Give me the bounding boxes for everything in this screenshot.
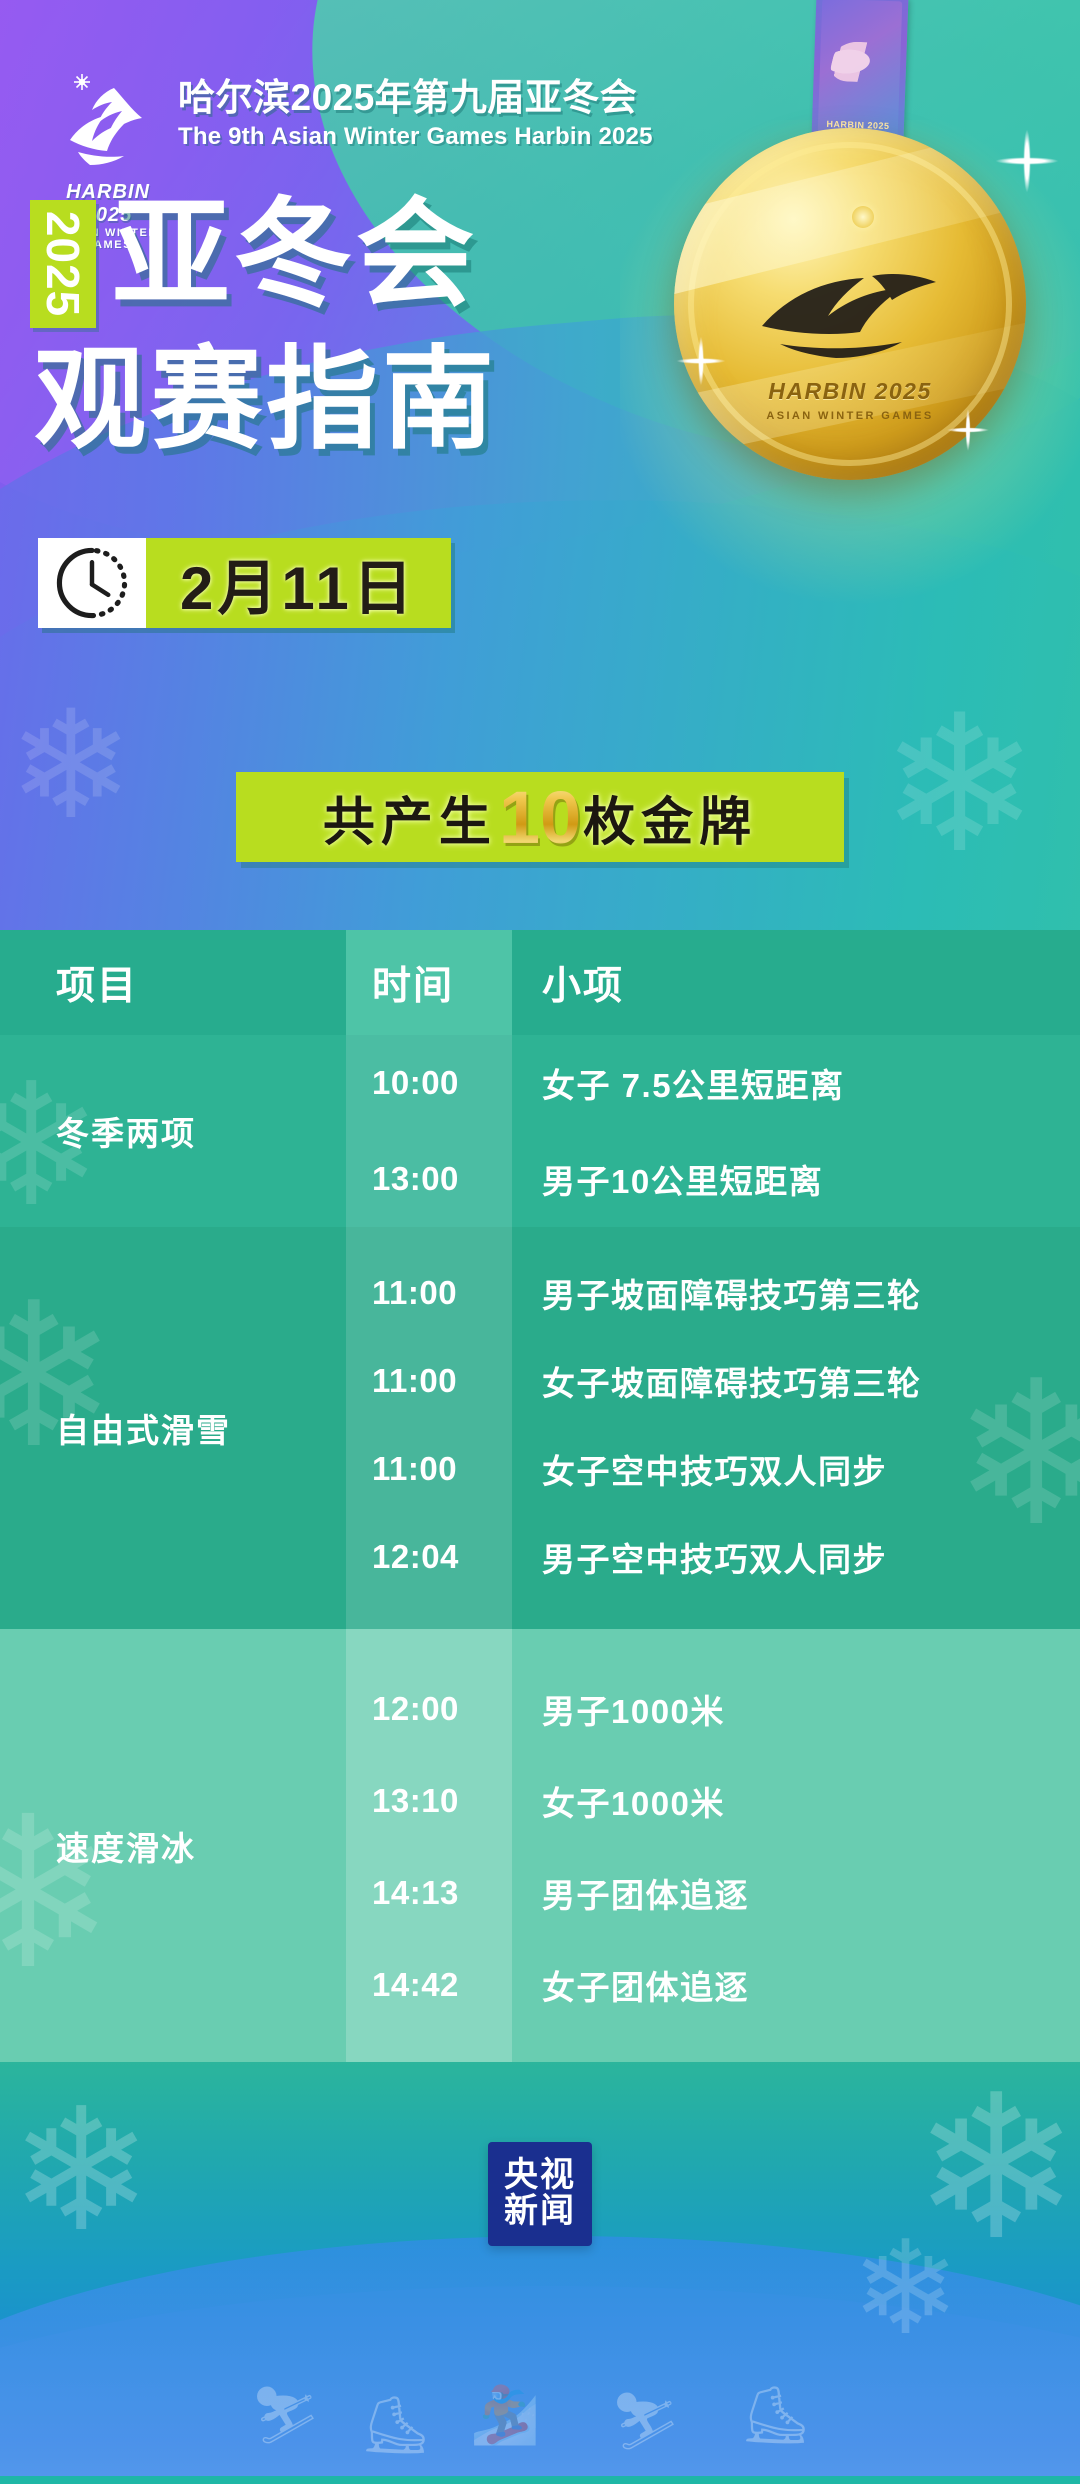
sparkle-decoration <box>666 326 736 396</box>
snowflake-decoration: ❄ <box>851 2212 960 2364</box>
table-row: 13:00 男子10公里短距离 <box>346 1131 1080 1227</box>
table-section-speed-skating: ❄ 速度滑冰 12:00 男子1000米 13:10 女子1000米 14:13… <box>0 1629 1080 2062</box>
cctv-news-logo: 央视 新闻 <box>488 2142 592 2246</box>
table-section-rows: 11:00 男子坡面障碍技巧第三轮 11:00 女子坡面障碍技巧第三轮 11:0… <box>346 1227 1080 1629</box>
table-row: 12:00 男子1000米 <box>346 1663 1080 1755</box>
table-row: 11:00 女子空中技巧双人同步 <box>346 1425 1080 1513</box>
cctv-logo-line-2: 新闻 <box>504 2194 576 2230</box>
row-subevent: 女子 7.5公里短距离 <box>512 1059 1080 1107</box>
table-section-event-cell: 速度滑冰 <box>0 1629 346 2062</box>
table-row: 10:00 女子 7.5公里短距离 <box>346 1035 1080 1131</box>
table-section-rows: 10:00 女子 7.5公里短距离 13:00 男子10公里短距离 <box>346 1035 1080 1227</box>
row-time: 13:00 <box>346 1160 512 1198</box>
table-header-cell-event: 项目 <box>0 930 346 1035</box>
row-subevent: 男子坡面障碍技巧第三轮 <box>512 1269 1080 1317</box>
cctv-logo-line-1: 央视 <box>504 2158 576 2194</box>
gold-banner-prefix: 共产生 <box>323 780 497 855</box>
row-subevent: 男子10公里短距离 <box>512 1155 1080 1203</box>
event-name-label: 自由式滑雪 <box>56 1404 231 1452</box>
gold-banner-count: 10 <box>499 775 581 860</box>
table-row: 13:10 女子1000米 <box>346 1755 1080 1847</box>
row-subevent: 女子坡面障碍技巧第三轮 <box>512 1357 1080 1405</box>
row-time: 12:04 <box>346 1538 512 1576</box>
infographic-page: ❄ ❄ HARBIN 2025 <box>0 0 1080 2484</box>
table-section-event-cell: 冬季两项 <box>0 1035 346 1227</box>
medal-ribbon: HARBIN 2025 <box>811 0 908 142</box>
games-title-cn: 哈尔滨2025年第九届亚冬会 <box>178 78 653 118</box>
row-time: 14:13 <box>346 1874 512 1912</box>
event-name-label: 速度滑冰 <box>56 1822 196 1870</box>
row-time: 11:00 <box>346 1362 512 1400</box>
date-badge: 2月11日 <box>38 538 451 628</box>
hero-title-block: 2025 亚冬会 观赛指南 <box>30 196 498 456</box>
hero-title-line-1: 亚冬会 <box>112 196 478 314</box>
row-subevent: 男子团体追逐 <box>512 1869 1080 1917</box>
table-header-event-label: 项目 <box>56 955 138 1011</box>
row-subevent: 男子1000米 <box>512 1685 1080 1733</box>
table-header-cell-subevent: 小项 <box>512 930 1080 1035</box>
row-time: 14:42 <box>346 1966 512 2004</box>
table-section-rows: 12:00 男子1000米 13:10 女子1000米 14:13 男子团体追逐… <box>346 1629 1080 2062</box>
clock-icon <box>38 538 146 628</box>
row-time: 10:00 <box>346 1064 512 1102</box>
athlete-silhouette-icon: ⛷ <box>610 2388 681 2454</box>
sparkle-decoration <box>982 116 1072 206</box>
row-subevent: 男子空中技巧双人同步 <box>512 1533 1080 1581</box>
snowflake-decoration: ❄ <box>10 2072 152 2270</box>
table-row: 14:42 女子团体追逐 <box>346 1939 1080 2031</box>
row-subevent: 女子1000米 <box>512 1777 1080 1825</box>
row-time: 11:00 <box>346 1450 512 1488</box>
row-subevent: 女子空中技巧双人同步 <box>512 1445 1080 1493</box>
table-section-biathlon: ❄ 冬季两项 10:00 女子 7.5公里短距离 13:00 男子10公里短距离 <box>0 1035 1080 1227</box>
gold-medal-count-banner: 共产生 10 枚金牌 <box>236 772 844 862</box>
table-section-event-cell: 自由式滑雪 <box>0 1227 346 1629</box>
table-header-subevent-label: 小项 <box>542 955 624 1011</box>
table-row: 11:00 女子坡面障碍技巧第三轮 <box>346 1337 1080 1425</box>
athlete-silhouette-icon: ⛷ <box>250 2382 321 2448</box>
row-time: 13:10 <box>346 1782 512 1820</box>
table-section-freestyle-skiing: ❄ ❄ 自由式滑雪 11:00 男子坡面障碍技巧第三轮 11:00 女子坡面障碍… <box>0 1227 1080 1629</box>
table-row: 11:00 男子坡面障碍技巧第三轮 <box>346 1249 1080 1337</box>
date-label: 2月11日 <box>180 540 417 627</box>
hero-title-line-2: 观赛指南 <box>34 344 498 456</box>
date-text-box: 2月11日 <box>146 538 451 628</box>
athlete-silhouette-icon: ⛸ <box>360 2392 431 2458</box>
schedule-table: 项目 时间 小项 ❄ 冬季两项 10:00 女子 7.5公里短距离 <box>0 930 1080 2062</box>
hero-section: ❄ ❄ HARBIN 2025 <box>0 0 1080 930</box>
gold-medal-graphic: HARBIN 2025 HARBIN 2025 <box>646 0 1066 560</box>
medal-emblem-icon <box>744 256 964 366</box>
row-time: 12:00 <box>346 1690 512 1728</box>
row-time: 11:00 <box>346 1274 512 1312</box>
table-header-time-label: 时间 <box>372 955 454 1011</box>
table-row: 12:04 男子空中技巧双人同步 <box>346 1513 1080 1601</box>
medal-sun-icon <box>852 206 874 228</box>
table-header-row: 项目 时间 小项 <box>0 930 1080 1035</box>
table-row: 14:13 男子团体追逐 <box>346 1847 1080 1939</box>
footer-section: ❄ ❄ ❄ 央视 新闻 ⛷ ⛸ 🏂 ⛷ ⛸ <box>0 2062 1080 2476</box>
sparkle-decoration <box>938 400 998 460</box>
row-subevent: 女子团体追逐 <box>512 1961 1080 2009</box>
harbin-2025-emblem-icon: HARBIN 2025 ASIAN WINTER GAMES <box>52 66 164 178</box>
athlete-silhouette-icon: 🏂 <box>470 2382 540 2448</box>
year-badge: 2025 <box>30 200 96 328</box>
games-title-en: The 9th Asian Winter Games Harbin 2025 <box>178 123 653 151</box>
table-header-cell-time: 时间 <box>346 930 512 1035</box>
event-name-label: 冬季两项 <box>56 1107 196 1155</box>
gold-banner-suffix: 枚金牌 <box>583 780 757 855</box>
year-label: 2025 <box>36 211 90 317</box>
brand-lockup: HARBIN 2025 ASIAN WINTER GAMES 哈尔滨2025年第… <box>52 66 653 178</box>
athlete-silhouette-icon: ⛸ <box>740 2382 811 2448</box>
